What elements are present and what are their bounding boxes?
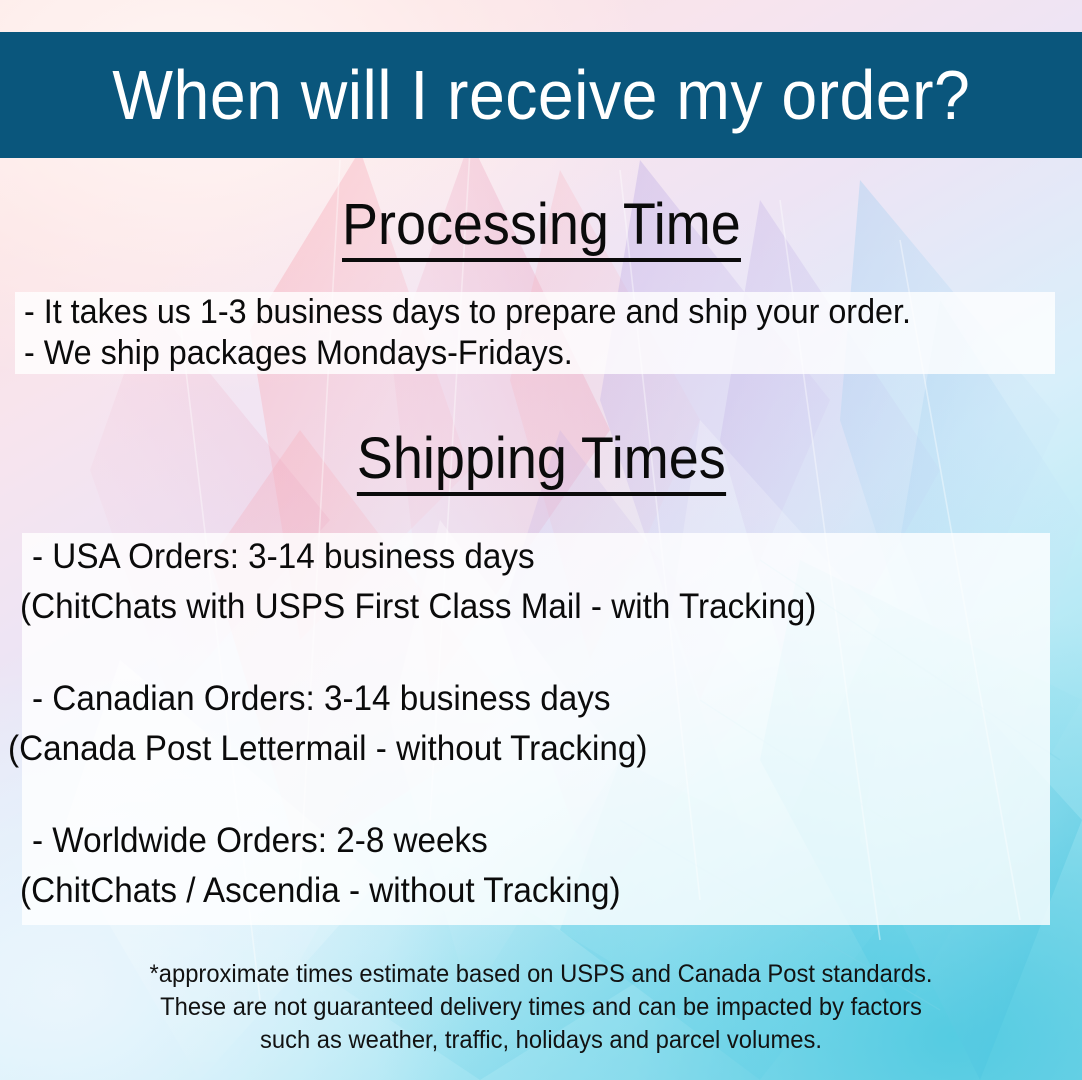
disclaimer-line: such as weather, traffic, holidays and p… [27, 1024, 1055, 1057]
shipping-group-carrier: (Canada Post Lettermail - without Tracki… [8, 724, 1000, 774]
disclaimer-note: *approximate times estimate based on USP… [0, 958, 1082, 1057]
page-title: When will I receive my order? [112, 60, 970, 130]
title-banner: When will I receive my order? [0, 32, 1082, 158]
shipping-times-heading: Shipping Times [357, 430, 726, 496]
processing-time-heading: Processing Time [342, 196, 741, 262]
processing-line: - It takes us 1-3 business days to prepa… [24, 292, 1003, 333]
shipping-times-body: - USA Orders: 3-14 business days (ChitCh… [32, 532, 1052, 916]
disclaimer-line: *approximate times estimate based on USP… [27, 958, 1055, 991]
shipping-group-carrier: (ChitChats / Ascendia - without Tracking… [20, 866, 1000, 916]
shipping-group-carrier: (ChitChats with USPS First Class Mail - … [20, 582, 1000, 632]
shipping-group-main: - USA Orders: 3-14 business days [32, 532, 1001, 582]
processing-time-body: - It takes us 1-3 business days to prepa… [24, 292, 1054, 374]
shipping-group-worldwide: - Worldwide Orders: 2-8 weeks (ChitChats… [32, 816, 1052, 916]
shipping-policy-infographic: When will I receive my order? Processing… [0, 0, 1082, 1080]
processing-line: - We ship packages Mondays-Fridays. [24, 333, 1003, 374]
disclaimer-line: These are not guaranteed delivery times … [27, 991, 1055, 1024]
shipping-group-main: - Worldwide Orders: 2-8 weeks [32, 816, 1001, 866]
shipping-group-usa: - USA Orders: 3-14 business days (ChitCh… [32, 532, 1052, 632]
shipping-group-main: - Canadian Orders: 3-14 business days [32, 674, 1001, 724]
shipping-group-canada: - Canadian Orders: 3-14 business days (C… [32, 674, 1052, 774]
